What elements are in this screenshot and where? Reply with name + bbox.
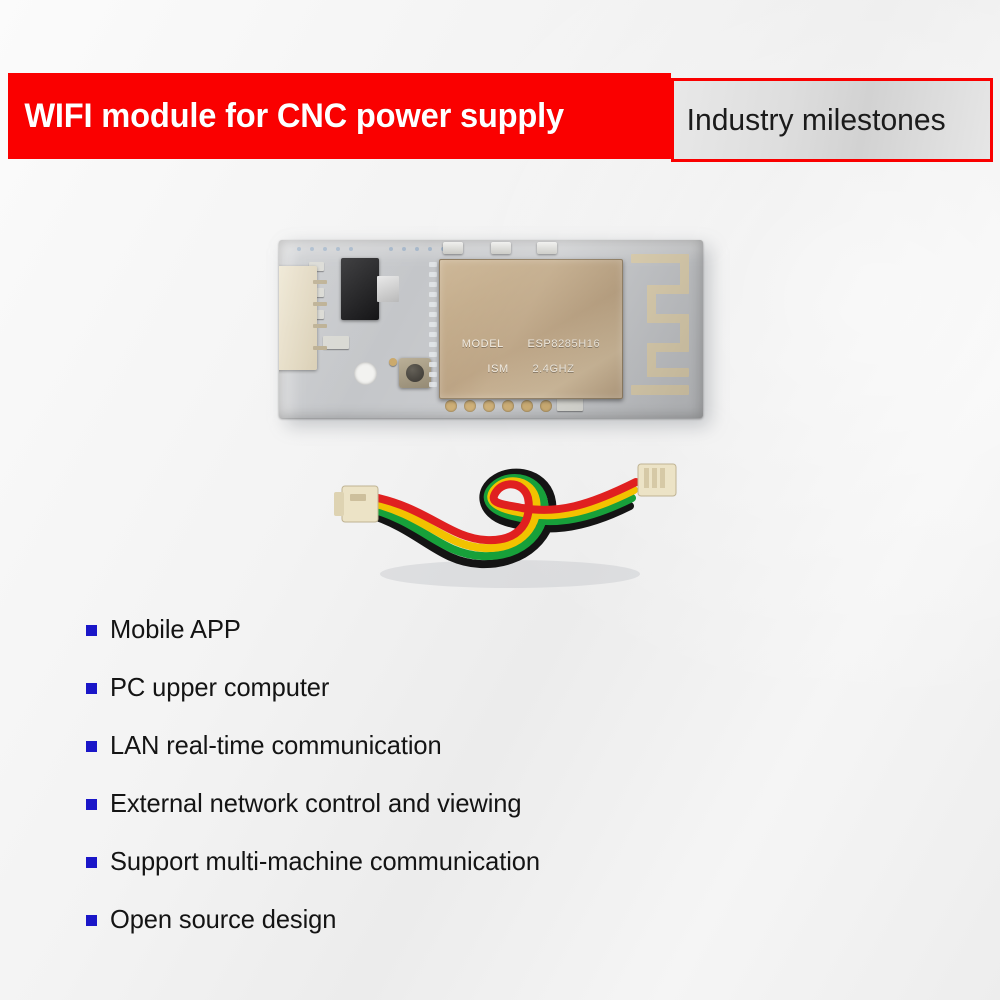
cable-connector-right [638,464,676,496]
title-banner: WIFI module for CNC power supply [8,73,671,159]
bullet-square-icon [86,857,97,868]
list-item: Mobile APP [86,600,726,658]
industry-milestones-label: Industry milestones [674,102,946,138]
cable-connector-left [334,486,378,522]
list-item: PC upper computer [86,658,726,716]
feature-label: LAN real-time communication [110,730,442,761]
product-infographic: WIFI module for CNC power supply Industr… [0,0,1000,1000]
bullet-square-icon [86,683,97,694]
list-item: Open source design [86,890,726,948]
feature-label: External network control and viewing [110,788,521,819]
feature-label: Mobile APP [110,614,241,645]
page-title: WIFI module for CNC power supply [8,97,564,136]
list-item: Support multi-machine communication [86,832,726,890]
jst-cable-harness [330,452,690,597]
feature-label: Support multi-machine communication [110,846,540,877]
industry-milestones-panel: Industry milestones [671,78,993,162]
feature-label: PC upper computer [110,672,329,703]
cable-illustration [330,452,690,597]
list-item: LAN real-time communication [86,716,726,774]
feature-label: Open source design [110,904,336,935]
list-item: External network control and viewing [86,774,726,832]
pcb-sheen [279,240,703,418]
feature-list: Mobile APP PC upper computer LAN real-ti… [86,600,726,948]
bullet-square-icon [86,741,97,752]
bullet-square-icon [86,625,97,636]
bullet-square-icon [86,915,97,926]
pcb-board: MODEL ESP8285H16 ISM 2.4GHZ [279,240,703,418]
wifi-module-photo: MODEL ESP8285H16 ISM 2.4GHZ [262,232,714,428]
bullet-square-icon [86,799,97,810]
